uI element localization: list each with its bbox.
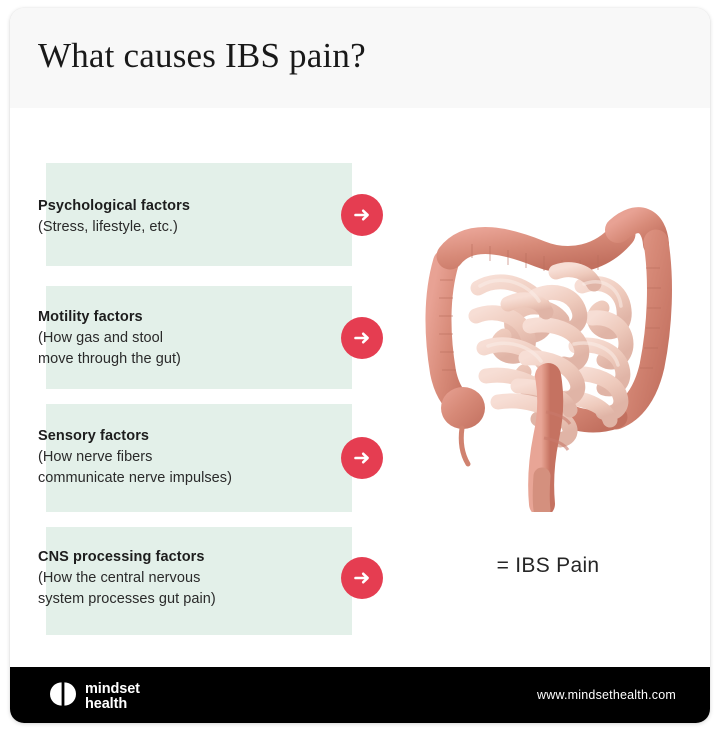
factor-text-group: Motility factors (How gas and stool move… bbox=[38, 307, 181, 370]
intestines-illustration bbox=[406, 176, 690, 512]
factor-arrow-button[interactable] bbox=[341, 194, 383, 236]
factor-text-group: Sensory factors (How nerve fibers commun… bbox=[38, 426, 232, 489]
factor-text-group: CNS processing factors (How the central … bbox=[38, 547, 216, 610]
header-band: What causes IBS pain? bbox=[10, 8, 710, 108]
footer-bar: mindset health www.mindsethealth.com bbox=[10, 667, 710, 723]
arrow-right-icon bbox=[351, 567, 373, 589]
factor-arrow-button[interactable] bbox=[341, 557, 383, 599]
brand-logo-line2: health bbox=[85, 697, 140, 712]
arrow-right-icon bbox=[351, 327, 373, 349]
factor-description: (Stress, lifestyle, etc.) bbox=[38, 217, 190, 238]
factor-arrow-button[interactable] bbox=[341, 317, 383, 359]
factor-title: Psychological factors bbox=[38, 196, 190, 217]
factor-title: Sensory factors bbox=[38, 426, 232, 447]
factor-description: (How nerve fibers communicate nerve impu… bbox=[38, 447, 232, 489]
brand-logo[interactable]: mindset health bbox=[50, 681, 140, 712]
arrow-right-icon bbox=[351, 447, 373, 469]
split-circle-logo-icon bbox=[50, 681, 76, 712]
factor-arrow-button[interactable] bbox=[341, 437, 383, 479]
factor-description: (How the central nervous system processe… bbox=[38, 568, 216, 610]
factor-title: CNS processing factors bbox=[38, 547, 216, 568]
arrow-right-icon bbox=[351, 204, 373, 226]
website-url[interactable]: www.mindsethealth.com bbox=[537, 688, 676, 702]
factor-title: Motility factors bbox=[38, 307, 181, 328]
page-title: What causes IBS pain? bbox=[38, 36, 366, 76]
factor-text-group: Psychological factors (Stress, lifestyle… bbox=[38, 196, 190, 238]
brand-logo-wordmark: mindset health bbox=[85, 682, 140, 711]
ibs-pain-result-label: = IBS Pain bbox=[406, 554, 690, 578]
infographic-card: What causes IBS pain? Psychological fact… bbox=[10, 8, 710, 723]
brand-logo-line1: mindset bbox=[85, 682, 140, 697]
factor-description: (How gas and stool move through the gut) bbox=[38, 328, 181, 370]
